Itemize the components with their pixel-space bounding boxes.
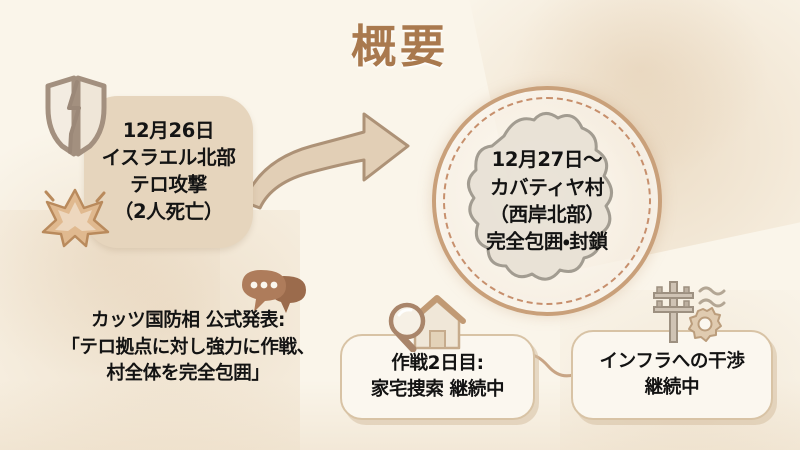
ops-card-infrastructure-text: インフラへの干渉 継続中 <box>599 349 744 402</box>
ops-infra-line-2: 継続中 <box>599 375 744 401</box>
official-statement: カッツ国防相 公式発表: 「テロ拠点に対し強力に作戦、 村全体を完全包囲」 <box>48 308 328 388</box>
incident-line-1: 12月26日 <box>102 118 236 145</box>
statement-line-2: 「テロ拠点に対し強力に作戦、 <box>48 335 328 362</box>
broken-shield-icon <box>40 74 112 164</box>
village-line-2: カバティヤ村 <box>486 174 608 201</box>
incident-line-4: （2人死亡） <box>102 199 236 226</box>
ops-infra-line-1: インフラへの干渉 <box>599 349 744 375</box>
incident-card-text: 12月26日 イスラエル北部 テロ攻撃 （2人死亡） <box>102 118 236 226</box>
utility-pole-gear-icon <box>646 278 730 348</box>
statement-line-3: 村全体を完全包囲」 <box>48 361 328 388</box>
house-magnifier-icon <box>385 294 467 356</box>
incident-line-2: イスラエル北部 <box>102 145 236 172</box>
ops-card-house-search-text: 作戦2日目: 家宅捜索 継続中 <box>371 351 505 404</box>
ops-search-line-2: 家宅捜索 継続中 <box>371 377 505 403</box>
page-title: 概要 <box>0 10 800 75</box>
village-line-3: （西岸北部） <box>486 201 608 228</box>
village-circle[interactable]: 12月27日〜 カバティヤ村 （西岸北部） 完全包囲・封鎖 <box>432 86 662 316</box>
explosion-burst-icon <box>40 186 110 252</box>
incident-line-3: テロ攻撃 <box>102 172 236 199</box>
curved-arrow-icon <box>238 98 414 222</box>
village-line-1: 12月27日〜 <box>486 146 608 173</box>
statement-line-1: カッツ国防相 公式発表: <box>48 308 328 335</box>
village-circle-text: 12月27日〜 カバティヤ村 （西岸北部） 完全包囲・封鎖 <box>432 86 662 316</box>
village-line-4: 完全包囲・封鎖 <box>486 228 608 255</box>
slide-canvas: 概要 12月26日 イスラエル北部 テロ攻撃 （2人死亡） <box>0 0 800 450</box>
